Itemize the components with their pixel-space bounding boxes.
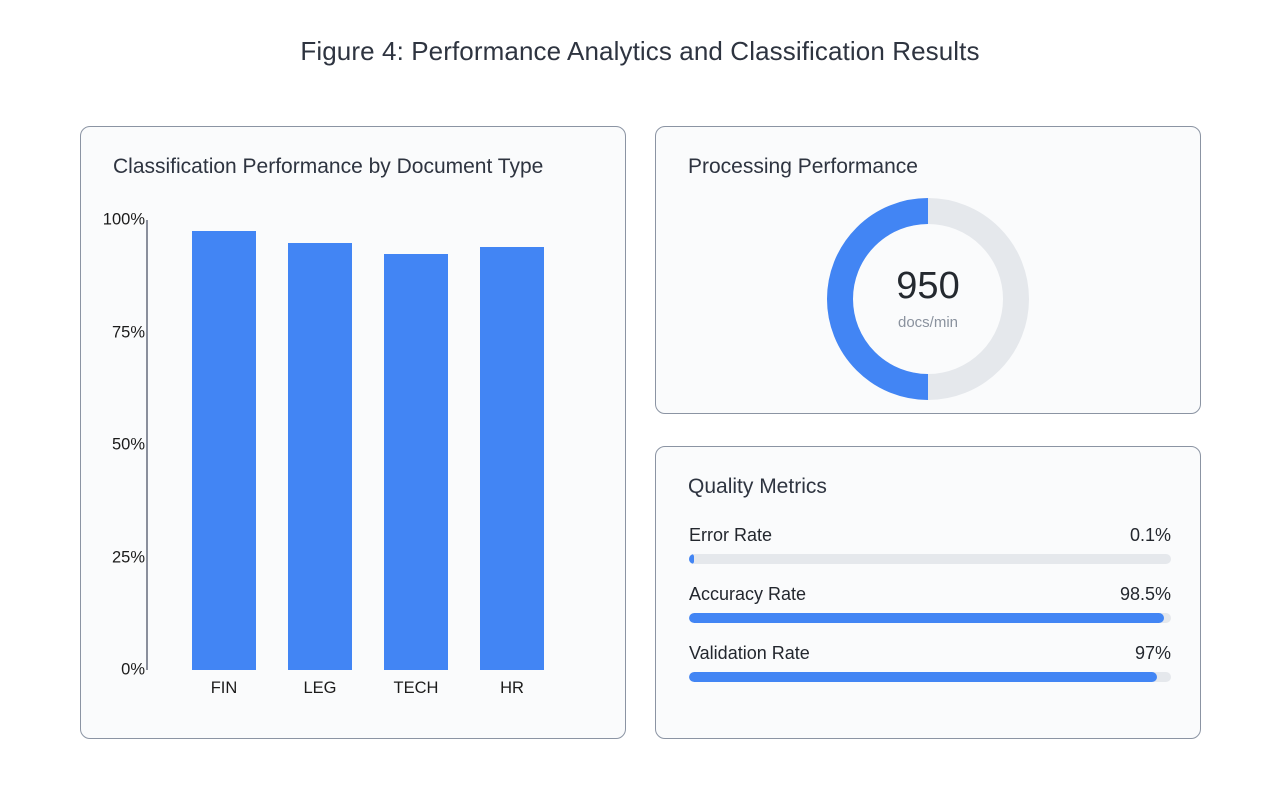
bar-column[interactable] bbox=[480, 220, 544, 670]
metric-progress-track[interactable] bbox=[689, 672, 1171, 682]
metric-label: Validation Rate bbox=[689, 643, 810, 664]
bar-rect[interactable] bbox=[288, 243, 352, 671]
quality-metrics-list: Error Rate0.1%Accuracy Rate98.5%Validati… bbox=[689, 525, 1171, 702]
metric-progress-fill bbox=[689, 613, 1164, 623]
metric-progress-fill bbox=[689, 554, 694, 564]
y-axis-tick-label: 75% bbox=[25, 323, 145, 342]
processing-performance-panel: Processing Performance 950 docs/min bbox=[655, 126, 1201, 414]
bar-rect[interactable] bbox=[480, 247, 544, 670]
metric-row: Accuracy Rate98.5% bbox=[689, 584, 1171, 623]
metric-progress-track[interactable] bbox=[689, 613, 1171, 623]
y-axis-line bbox=[146, 220, 148, 670]
gauge-panel-title: Processing Performance bbox=[688, 155, 918, 179]
metric-value: 97% bbox=[1135, 643, 1171, 664]
x-axis-tick-label: HR bbox=[452, 679, 572, 698]
bar-rect[interactable] bbox=[384, 254, 448, 670]
y-axis-tick-label: 50% bbox=[25, 436, 145, 455]
bar-chart-plot: 0%25%50%75%100% FINLEGTECHHR bbox=[81, 127, 627, 740]
processing-gauge: 950 docs/min bbox=[822, 193, 1034, 405]
metric-header: Accuracy Rate98.5% bbox=[689, 584, 1171, 605]
bar-column[interactable] bbox=[288, 220, 352, 670]
metric-progress-fill bbox=[689, 672, 1157, 682]
metric-header: Error Rate0.1% bbox=[689, 525, 1171, 546]
metric-row: Error Rate0.1% bbox=[689, 525, 1171, 564]
gauge-unit: docs/min bbox=[898, 314, 958, 331]
y-axis-tick-label: 25% bbox=[25, 548, 145, 567]
metric-label: Accuracy Rate bbox=[689, 584, 806, 605]
classification-performance-panel: Classification Performance by Document T… bbox=[80, 126, 626, 739]
gauge-value: 950 bbox=[896, 267, 959, 307]
quality-metrics-panel: Quality Metrics Error Rate0.1%Accuracy R… bbox=[655, 446, 1201, 739]
metric-label: Error Rate bbox=[689, 525, 772, 546]
page-title: Figure 4: Performance Analytics and Clas… bbox=[0, 36, 1280, 67]
metric-header: Validation Rate97% bbox=[689, 643, 1171, 664]
y-axis-tick-label: 0% bbox=[25, 661, 145, 680]
bar-column[interactable] bbox=[384, 220, 448, 670]
bar-rect[interactable] bbox=[192, 231, 256, 670]
gauge-center-label: 950 docs/min bbox=[822, 193, 1034, 405]
quality-metrics-title: Quality Metrics bbox=[688, 475, 827, 499]
bar-column[interactable] bbox=[192, 220, 256, 670]
metric-progress-track[interactable] bbox=[689, 554, 1171, 564]
bars-area bbox=[177, 220, 597, 670]
metric-value: 0.1% bbox=[1130, 525, 1171, 546]
y-axis-tick-label: 100% bbox=[25, 211, 145, 230]
metric-row: Validation Rate97% bbox=[689, 643, 1171, 682]
metric-value: 98.5% bbox=[1120, 584, 1171, 605]
